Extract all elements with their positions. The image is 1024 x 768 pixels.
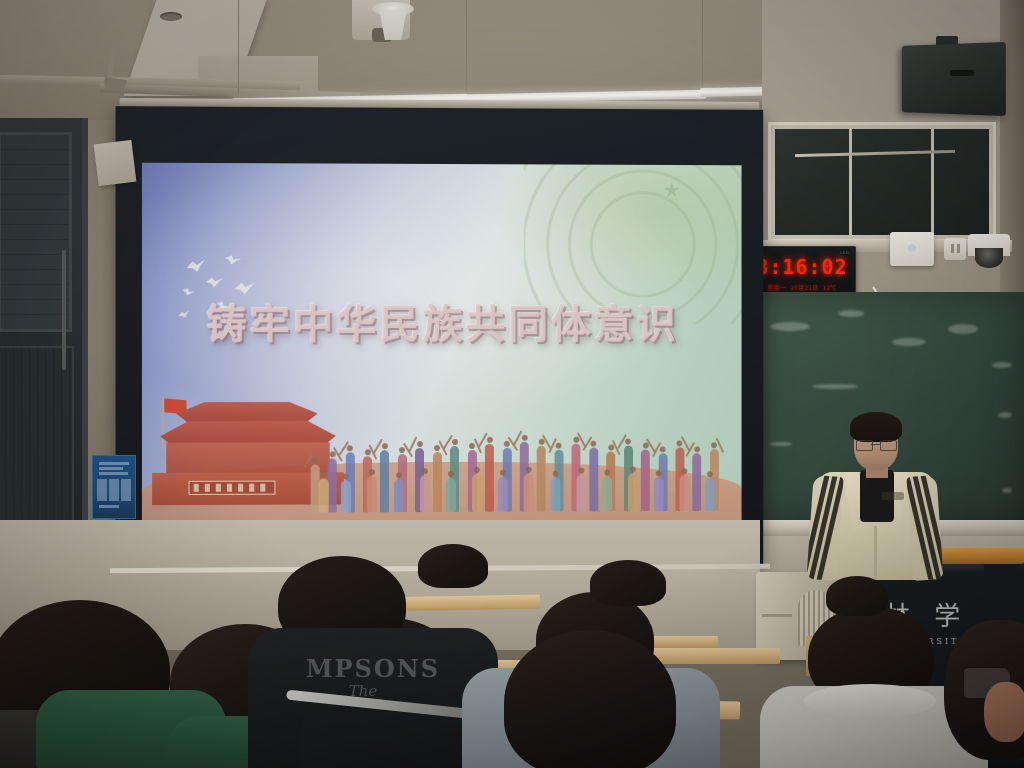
pendant-shade	[376, 10, 410, 40]
slide-title: 铸牢中华民族共同体意识	[142, 292, 742, 350]
clock-date-readout: 星期一 10月21日 12℃	[749, 283, 855, 292]
camera-dome-icon	[975, 248, 1003, 268]
pendant-lamp	[370, 0, 416, 46]
wall-information-sign	[92, 455, 136, 519]
student-long-hair-front	[494, 630, 704, 768]
student-right-glasses	[928, 620, 1024, 768]
presenter-hair	[850, 412, 902, 442]
classroom-window	[768, 122, 996, 242]
door-handle[interactable]	[62, 250, 66, 370]
student-distant-head	[590, 560, 666, 606]
wifi-access-point	[890, 232, 934, 266]
classroom-photo: LED 8:16:02 星期一 10月21日 12℃	[0, 0, 1024, 768]
student-distant-head	[418, 544, 488, 588]
dome-security-camera	[968, 234, 1010, 256]
ceiling-vent-icon	[160, 12, 182, 21]
power-socket	[944, 238, 966, 260]
window-mullion	[931, 129, 934, 235]
lamp-wire	[702, 0, 703, 92]
led-wall-clock: LED 8:16:02 星期一 10月21日 12℃	[748, 246, 856, 296]
hoodie-hood	[804, 684, 936, 718]
crowd-illustration	[302, 384, 736, 513]
wall-mounted-box	[94, 140, 137, 186]
presenter-right-sleeve	[906, 475, 943, 581]
projection-screen: ★ 铸牢中华民族共同体意识	[116, 106, 764, 572]
student-distant-head	[826, 576, 888, 616]
wall-speaker	[902, 42, 1006, 116]
jacket-brand-patch	[882, 492, 904, 500]
lamp-wire	[238, 0, 239, 96]
window-mullion	[849, 129, 852, 235]
window-glass	[775, 129, 989, 235]
slide-star-icon: ★	[663, 181, 681, 201]
student-ear	[984, 682, 1024, 742]
jacket-print-line1: MPSONS	[258, 654, 488, 683]
presenter-glasses-icon	[856, 440, 896, 449]
projected-slide: ★ 铸牢中华民族共同体意识	[142, 163, 742, 556]
lamp-wire	[466, 0, 467, 96]
clock-time-readout: 8:16:02	[749, 255, 855, 279]
presenter-student	[810, 414, 940, 574]
